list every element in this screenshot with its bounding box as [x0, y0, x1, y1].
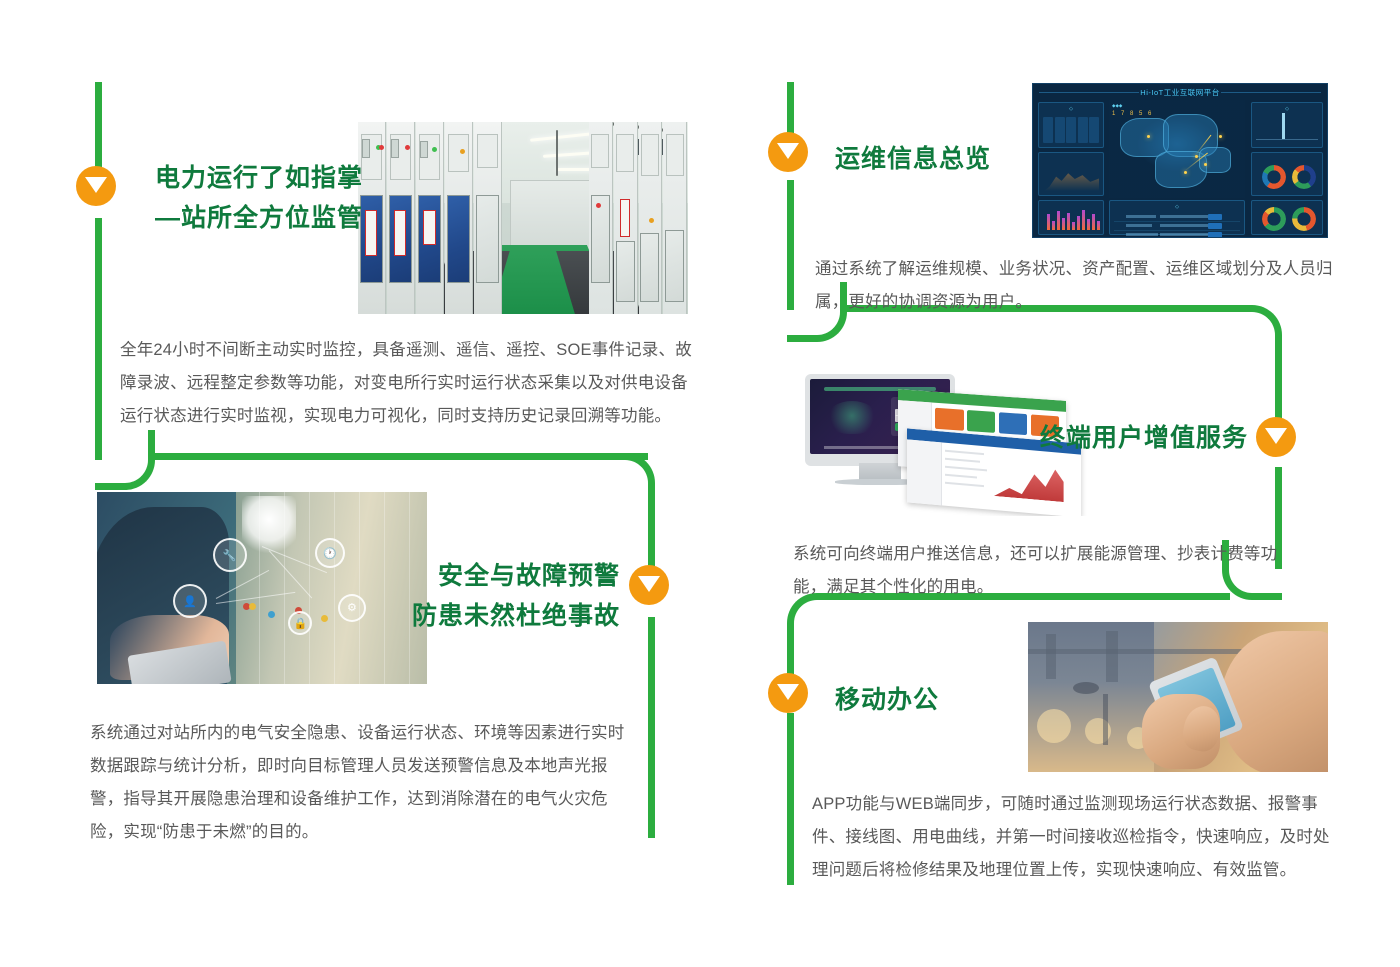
status-led [405, 145, 410, 150]
table-cell [1126, 215, 1156, 218]
chevron-down-icon [638, 576, 660, 592]
table-cell [1160, 215, 1212, 218]
title-rule-left [1039, 92, 1139, 93]
heading-ops-overview: 运维信息总览 [835, 139, 1095, 179]
map-region [1199, 147, 1232, 172]
switchgear-cabinet [614, 122, 638, 314]
body-value-added-service: 系统可向终端用户推送信息，还可以扩展能源管理、抄表计费等功能，满足其个性化的用电… [793, 538, 1293, 604]
control-panel [616, 134, 634, 172]
body-power-monitoring: 全年24小时不间断主动实时监控，具备遥测、遥信、遥控、SOE事件记录、故障录波、… [120, 334, 700, 433]
control-panel [641, 134, 659, 176]
clock-icon: 🕐 [315, 538, 345, 568]
body-safety-warning: 系统通过对站所内的电气安全隐患、设备运行状态、环境等因素进行实时数据跟踪与统计分… [90, 717, 635, 849]
infographic-canvas: 电力运行了如指掌 —站所全方位监管 [0, 0, 1400, 967]
monitor-stand [859, 463, 901, 481]
bar [1092, 214, 1095, 230]
table-row [1114, 213, 1240, 222]
node-safety-warning[interactable] [629, 565, 669, 605]
donut-chart [1262, 207, 1286, 231]
control-panel [477, 134, 499, 169]
bar-chart-card [1038, 200, 1104, 235]
heading-mobile-office: 移动办公 [835, 680, 1095, 720]
table-row [1114, 222, 1240, 231]
map-region [1120, 118, 1169, 157]
area-chart [994, 460, 1064, 502]
indicator-knob [249, 603, 256, 610]
connector-right-vertical-d [787, 645, 794, 675]
chevron-down-icon [777, 143, 799, 159]
table-cell [1126, 224, 1152, 227]
cabinet-door [591, 195, 610, 283]
window-sidebar [907, 439, 942, 505]
card-title: ◇ [1039, 105, 1103, 114]
control-panel [666, 134, 684, 176]
donut-chart [1292, 207, 1316, 231]
switchgear-cabinet [416, 122, 444, 314]
rack-column [335, 492, 360, 684]
connector-left-corner-right [95, 430, 155, 490]
person-icon: 👤 [173, 584, 207, 618]
dashboard-platform-title: Hi-IoT工业互联网平台 [1033, 86, 1327, 100]
bar [1082, 210, 1085, 230]
node-power-monitoring[interactable] [76, 166, 116, 206]
bar [1077, 216, 1080, 230]
donut-chart-card-2 [1251, 200, 1323, 235]
wrench-icon: 🔧 [213, 538, 247, 572]
switchgear-cabinet [445, 122, 473, 314]
meter-display [420, 141, 428, 158]
railing-blur [1028, 649, 1244, 654]
spike-chart-card: ◇ [1251, 102, 1323, 148]
table-cell [1126, 233, 1158, 236]
alarm-table-card: ◇ [1109, 200, 1245, 235]
switchgear-cabinet [663, 122, 687, 314]
bar [1072, 222, 1075, 230]
map-node [1219, 135, 1222, 138]
heading-value-added-service: 终端用户增值服务 [1000, 418, 1248, 458]
body-ops-overview: 通过系统了解运维规模、业务状况、资产配置、运维区域划分及人员归属，更好的协调资源… [815, 253, 1337, 319]
title-rule-right [1221, 92, 1321, 93]
stat-tile [967, 410, 996, 433]
donut-chart [1292, 165, 1316, 189]
content-line [945, 458, 980, 463]
warning-tag [620, 199, 630, 237]
bar [1062, 218, 1065, 230]
card-title: ◇ [1252, 105, 1322, 114]
cabinet-door [640, 233, 659, 302]
security-shield-graphic [827, 401, 877, 434]
control-panel [591, 134, 609, 169]
connector-left-corner-down [595, 453, 655, 513]
connector-right-vertical-bottom [787, 713, 794, 885]
rack-column [310, 492, 335, 684]
donut-chart [1262, 165, 1286, 189]
map-node [1204, 163, 1207, 166]
status-led [379, 145, 384, 150]
table-cell [1160, 233, 1208, 236]
bar [1052, 221, 1055, 230]
connector-left-horizontal [148, 453, 648, 460]
stat-tile [935, 407, 964, 430]
bar [1047, 214, 1050, 230]
table-row [1114, 231, 1240, 238]
content-line [945, 482, 983, 487]
donut-chart-card-1 [1251, 152, 1323, 196]
stool-leg-blur [1103, 694, 1108, 745]
cabinet-door [447, 195, 470, 283]
chevron-down-icon [777, 684, 799, 700]
cabinet-door [665, 230, 684, 303]
row-action-button[interactable] [1208, 214, 1222, 220]
indicator-knob [321, 615, 328, 622]
bar [1097, 221, 1100, 230]
switchgear-bank-right [589, 122, 688, 314]
chevron-down-icon [85, 177, 107, 193]
content-line [945, 474, 976, 479]
settings-icon: ⚙ [338, 594, 366, 622]
node-mobile-office[interactable] [768, 673, 808, 713]
warning-tag [423, 210, 435, 245]
ceiling-pipe [556, 130, 558, 176]
bar [1057, 211, 1060, 230]
status-led [649, 218, 654, 223]
chevron-down-icon [1265, 428, 1287, 444]
railing-blur [1046, 634, 1056, 679]
row-action-button[interactable] [1208, 232, 1222, 238]
row-action-button[interactable] [1208, 223, 1222, 229]
bar [1067, 213, 1070, 230]
status-led [596, 203, 601, 208]
card-title: ◇ [1110, 203, 1244, 212]
china-map-visual: ◆◆◆ 1 7 8 5 6 [1109, 100, 1245, 198]
content-line [945, 466, 987, 472]
heading-power-monitoring: 电力运行了如指掌 —站所全方位监管 [155, 158, 415, 238]
cabinet-door [616, 241, 635, 302]
heading-safety-warning: 安全与故障预警 防患未然杜绝事故 [370, 556, 620, 636]
indicator-knob [268, 611, 275, 618]
control-panel [448, 134, 470, 172]
railing-blur [1106, 631, 1118, 682]
connector-left-vertical-bottom [648, 617, 655, 838]
switchgear-cabinet [589, 122, 613, 314]
connector-left-vertical-main [95, 218, 102, 460]
body-mobile-office: APP功能与WEB端同步，可随时通过监测现场运行状态数据、报警事件、接线图、用电… [812, 788, 1337, 887]
node-value-added-service[interactable] [1256, 417, 1296, 457]
switchgear-cabinet [639, 122, 663, 314]
cabinet-door [476, 195, 499, 283]
switchgear-cabinet [474, 122, 502, 314]
bar [1087, 219, 1090, 230]
content-line [945, 450, 983, 455]
meter-display [391, 139, 399, 158]
node-ops-overview[interactable] [768, 132, 808, 172]
meter-display [362, 139, 370, 158]
